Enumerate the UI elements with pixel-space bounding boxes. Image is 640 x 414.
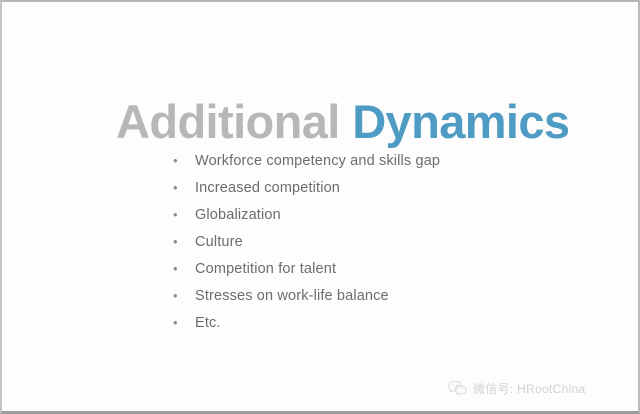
list-item-label: Competition for talent <box>195 262 336 277</box>
list-item-label: Culture <box>195 235 243 250</box>
bullet-dot-icon: • <box>173 262 195 275</box>
list-item: • Stresses on work-life balance <box>173 289 593 316</box>
watermark-label: 微信号: HRootChina <box>473 383 586 395</box>
list-item: • Increased competition <box>173 181 593 208</box>
title-accent-text: Dynamics <box>352 95 569 148</box>
bullet-dot-icon: • <box>173 154 195 167</box>
list-item-label: Stresses on work-life balance <box>195 289 389 304</box>
list-item: • Competition for talent <box>173 262 593 289</box>
page-title: Additional Dynamics <box>116 97 569 146</box>
bullet-dot-icon: • <box>173 289 195 302</box>
list-item: • Etc. <box>173 316 593 343</box>
wechat-icon <box>448 380 467 397</box>
bullet-dot-icon: • <box>173 208 195 221</box>
list-item: • Culture <box>173 235 593 262</box>
watermark: 微信号: HRootChina <box>448 380 586 397</box>
bullet-dot-icon: • <box>173 316 195 329</box>
bullet-dot-icon: • <box>173 181 195 194</box>
list-item: • Globalization <box>173 208 593 235</box>
bullet-list: • Workforce competency and skills gap • … <box>173 154 593 343</box>
list-item-label: Increased competition <box>195 181 340 196</box>
list-item-label: Etc. <box>195 316 221 331</box>
slide-canvas: Additional Dynamics • Workforce competen… <box>0 0 640 414</box>
bullet-dot-icon: • <box>173 235 195 248</box>
list-item: • Workforce competency and skills gap <box>173 154 593 181</box>
list-item-label: Globalization <box>195 208 281 223</box>
title-primary-text: Additional <box>116 95 352 148</box>
list-item-label: Workforce competency and skills gap <box>195 154 440 169</box>
